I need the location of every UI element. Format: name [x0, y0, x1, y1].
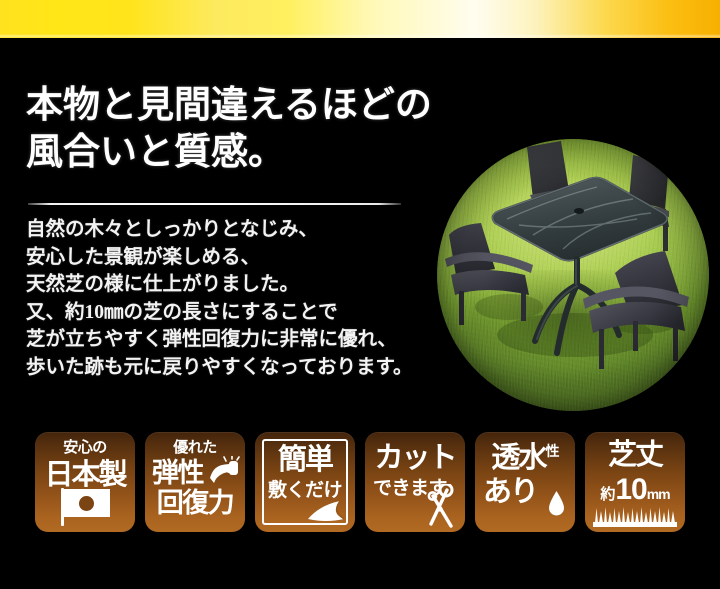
patio-furniture-set: [437, 139, 709, 411]
badge-elastic-recovery: 優れた 弾性 回復力: [145, 432, 245, 532]
badge-line-2-number: 10: [615, 473, 646, 506]
badge-line-1: 優れた: [145, 440, 245, 455]
badge-line-3: 回復力: [145, 490, 245, 517]
badge-cuttable: カット できます: [365, 432, 465, 532]
badge-line-2: 弾性: [145, 460, 245, 487]
badge-line-2-prefix: 約: [600, 486, 615, 503]
body-copy: 自然の木々としっかりとなじみ、 安心した景観が楽しめる、 天然芝の様に仕上がりま…: [26, 216, 446, 381]
badge-easy-install-text: 簡単 敷くだけ: [255, 446, 355, 500]
feature-badge-row: 安心の 日本製 優れた 弾性 回復力: [0, 432, 720, 534]
badge-made-in-japan-text: 安心の 日本製: [35, 440, 135, 490]
badge-line-2: 日本製: [35, 461, 135, 490]
badge-cuttable-text: カット できます: [365, 440, 465, 498]
badge-line-1: 芝丈: [585, 441, 685, 470]
product-photo-circle-mask: [437, 139, 709, 411]
badge-line-1: 簡単: [255, 446, 355, 475]
japan-flag-icon: [61, 488, 113, 526]
top-gold-gradient-bar: [0, 0, 720, 38]
badge-pile-height-text: 芝丈 約10mm: [585, 441, 685, 505]
badge-elastic-recovery-text: 優れた 弾性 回復力: [145, 440, 245, 517]
grass-blades-icon: [593, 505, 677, 527]
badge-water-permeable-text: 透水性 あり: [475, 440, 575, 507]
headline-divider: [28, 203, 401, 205]
product-photo: [437, 139, 709, 411]
badge-easy-install: 簡単 敷くだけ: [255, 432, 355, 532]
page-title: 本物と見間違えるほどの 風合いと質感。: [26, 82, 456, 176]
topbar-sheen: [0, 34, 720, 38]
badge-line-1-sup: 性: [546, 443, 559, 459]
badge-line-1: カット: [365, 444, 465, 473]
badge-pile-height: 芝丈 約10mm: [585, 432, 685, 532]
badge-made-in-japan: 安心の 日本製: [35, 432, 135, 532]
badge-line-1: 安心の: [35, 440, 135, 455]
advertisement-banner: 本物と見間違えるほどの 風合いと質感。 自然の木々としっかりとなじみ、 安心した…: [0, 0, 720, 589]
badge-line-2: できます: [365, 479, 465, 498]
badge-line-2-unit: mm: [647, 486, 670, 502]
badge-water-permeable: 透水性 あり: [475, 432, 575, 532]
badge-line-2: あり: [475, 478, 575, 507]
badge-line-1: 透水: [491, 442, 545, 474]
peeling-sheet-icon: [306, 497, 346, 523]
